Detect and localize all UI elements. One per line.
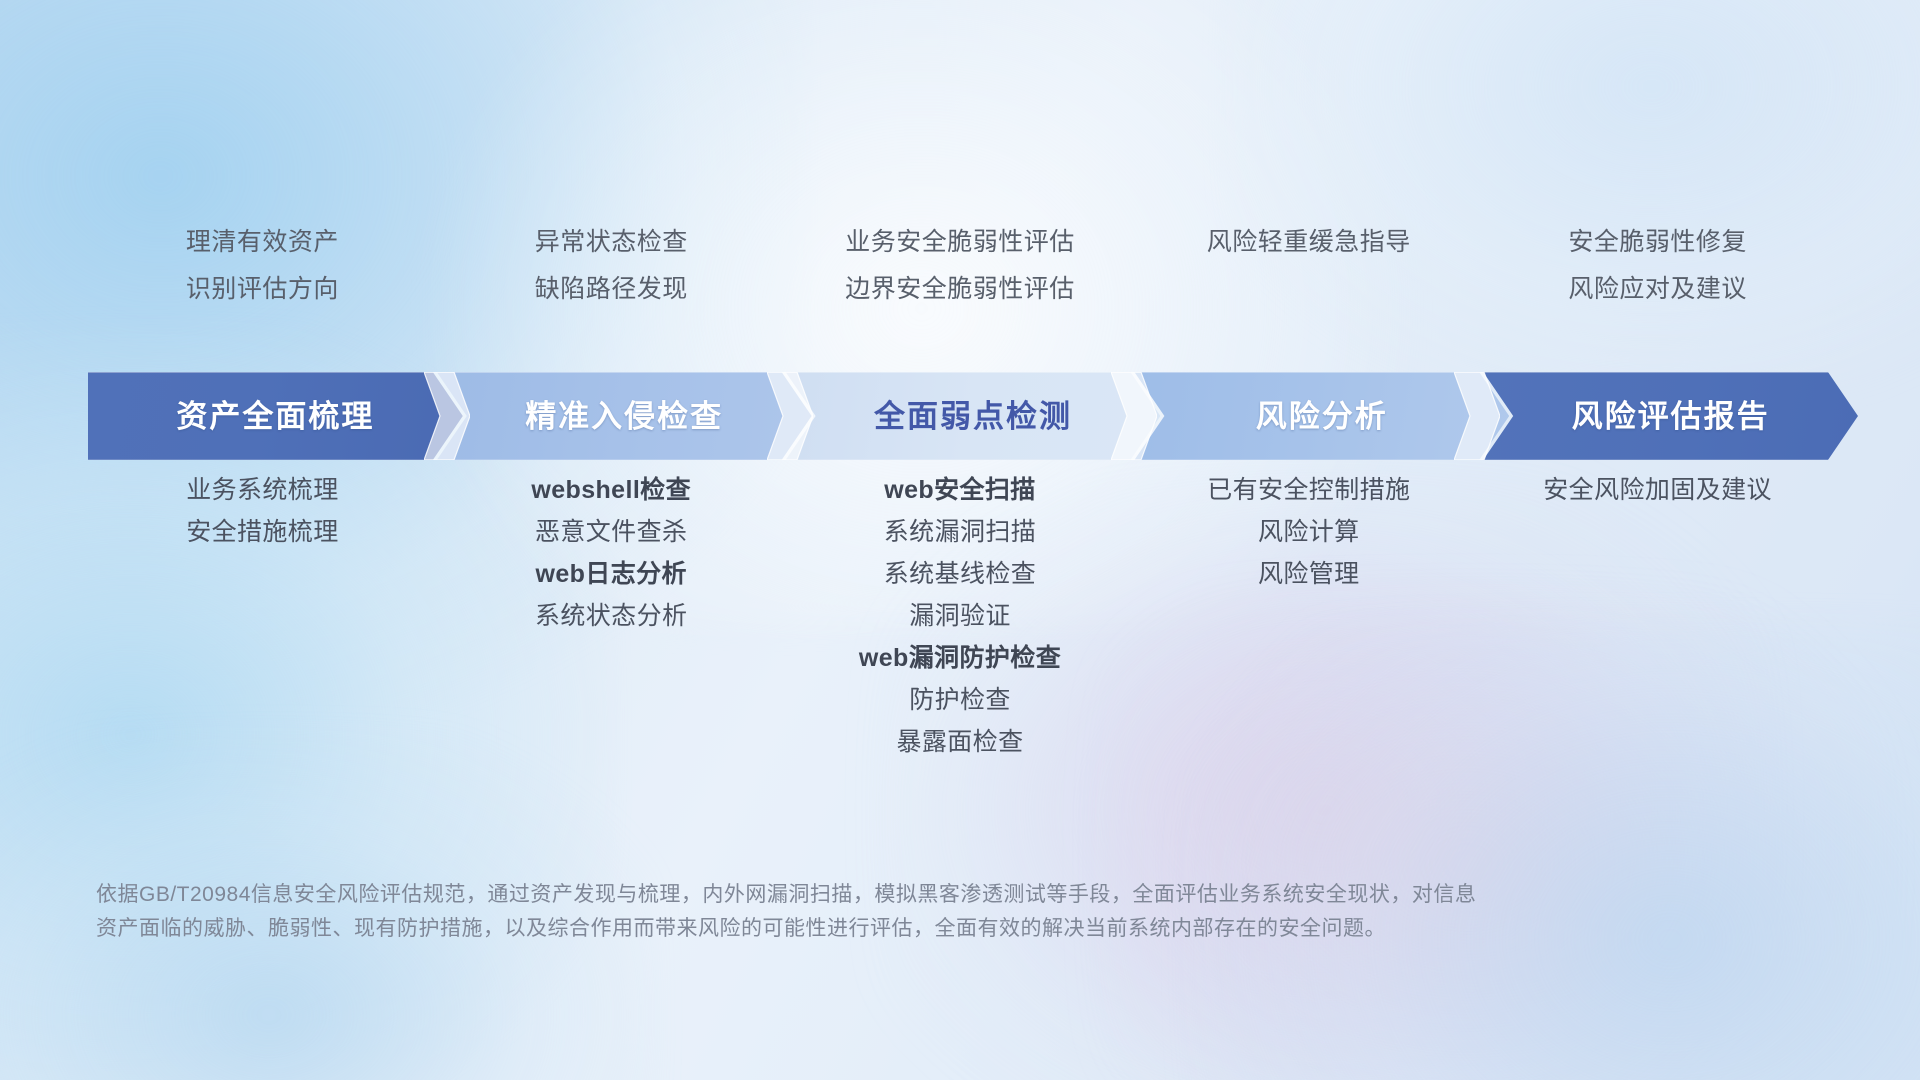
list-item: web漏洞防护检查	[859, 646, 1061, 671]
note-text: 业务安全脆弱性评估	[845, 230, 1075, 255]
list-item: 系统漏洞扫描	[884, 520, 1036, 545]
list-item: 安全风险加固及建议	[1543, 478, 1772, 503]
list-item: 恶意文件查杀	[535, 520, 687, 545]
list-item: 系统基线检查	[884, 562, 1036, 587]
process-step-intrusion-check[interactable]: 精准入侵检查	[437, 372, 812, 460]
top-notes-intrusion-check: 异常状态检查缺陷路径发现	[437, 230, 786, 302]
note-text: 安全脆弱性修复	[1568, 230, 1747, 255]
top-notes-risk-analysis: 风险轻重缓急指导	[1134, 230, 1483, 302]
list-item: 暴露面检查	[896, 730, 1023, 755]
process-step-asset-inventory[interactable]: 资产全面梳理	[88, 372, 463, 460]
list-item: 风险管理	[1258, 562, 1360, 587]
note-text: 异常状态检查	[535, 230, 688, 255]
step-details-row: 业务系统梳理安全措施梳理webshell检查恶意文件查杀web日志分析系统状态分…	[88, 478, 1832, 755]
process-step-label: 资产全面梳理	[176, 401, 374, 432]
process-diagram: 理清有效资产识别评估方向异常状态检查缺陷路径发现业务安全脆弱性评估边界安全脆弱性…	[0, 0, 1920, 1080]
process-step-label: 风险分析	[1256, 401, 1388, 432]
list-item: webshell检查	[531, 478, 691, 503]
list-item: web日志分析	[535, 562, 686, 587]
detail-list-risk-analysis: 已有安全控制措施风险计算风险管理	[1134, 478, 1483, 587]
footer-description: 依据GB/T20984信息安全风险评估规范，通过资产发现与梳理，内外网漏洞扫描，…	[96, 878, 1810, 946]
detail-list-intrusion-check: webshell检查恶意文件查杀web日志分析系统状态分析	[437, 478, 786, 629]
list-item: 已有安全控制措施	[1207, 478, 1410, 503]
process-step-risk-report[interactable]: 风险评估报告	[1483, 372, 1858, 460]
list-item: web安全扫描	[884, 478, 1035, 503]
detail-list-risk-report: 安全风险加固及建议	[1483, 478, 1832, 503]
list-item: 风险计算	[1258, 520, 1360, 545]
note-text: 风险应对及建议	[1568, 277, 1747, 302]
process-step-label: 风险评估报告	[1572, 401, 1770, 432]
process-step-band: 资产全面梳理精准入侵检查全面弱点检测风险分析风险评估报告	[88, 372, 1832, 460]
list-item: 系统状态分析	[535, 604, 687, 629]
note-text: 缺陷路径发现	[535, 277, 688, 302]
top-notes-asset-inventory: 理清有效资产识别评估方向	[88, 230, 437, 302]
list-item: 防护检查	[909, 688, 1011, 713]
detail-list-asset-inventory: 业务系统梳理安全措施梳理	[88, 478, 437, 545]
process-step-weakness-detection[interactable]: 全面弱点检测	[786, 372, 1161, 460]
note-text: 识别评估方向	[186, 277, 339, 302]
note-text: 边界安全脆弱性评估	[845, 277, 1075, 302]
footer-line-2: 资产面临的威胁、脆弱性、现有防护措施，以及综合作用而带来风险的可能性进行评估，全…	[96, 912, 1810, 946]
top-notes-weakness-detection: 业务安全脆弱性评估边界安全脆弱性评估	[786, 230, 1135, 302]
list-item: 安全措施梳理	[186, 520, 338, 545]
top-notes-risk-report: 安全脆弱性修复风险应对及建议	[1483, 230, 1832, 302]
list-item: 业务系统梳理	[186, 478, 338, 503]
process-step-label: 精准入侵检查	[525, 401, 723, 432]
list-item: 漏洞验证	[909, 604, 1011, 629]
note-text: 理清有效资产	[186, 230, 339, 255]
top-notes-row: 理清有效资产识别评估方向异常状态检查缺陷路径发现业务安全脆弱性评估边界安全脆弱性…	[88, 230, 1832, 302]
note-text: 风险轻重缓急指导	[1207, 230, 1411, 255]
process-step-label: 全面弱点检测	[874, 401, 1072, 432]
detail-list-weakness-detection: web安全扫描系统漏洞扫描系统基线检查漏洞验证web漏洞防护检查防护检查暴露面检…	[786, 478, 1135, 755]
footer-line-1: 依据GB/T20984信息安全风险评估规范，通过资产发现与梳理，内外网漏洞扫描，…	[96, 878, 1810, 912]
process-step-risk-analysis[interactable]: 风险分析	[1134, 372, 1509, 460]
